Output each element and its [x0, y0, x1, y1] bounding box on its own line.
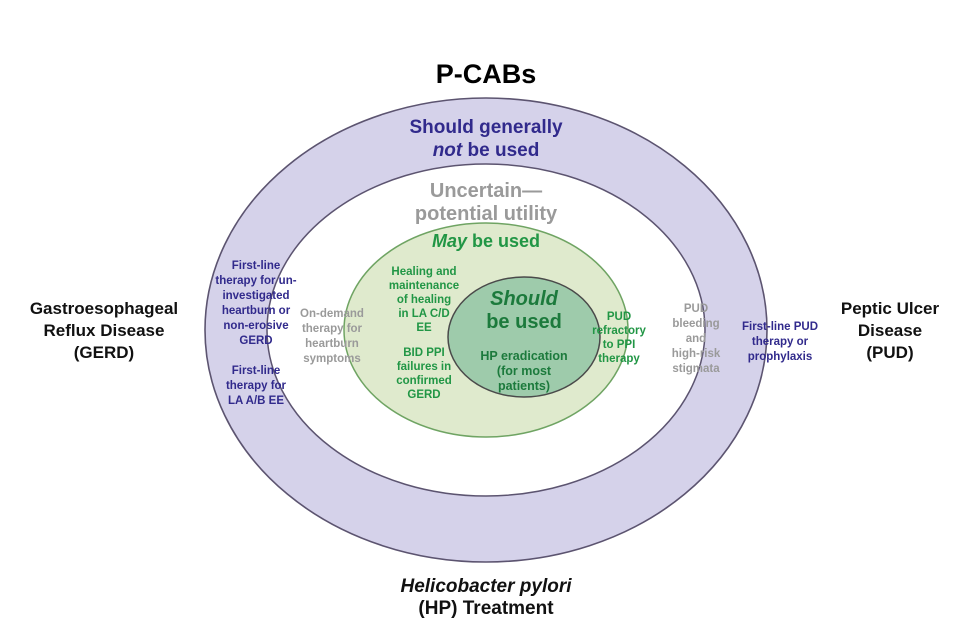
ring4-center-line-1: (for most: [497, 364, 552, 378]
pud-label-line2: Disease: [858, 321, 922, 340]
ring-uncertain-heading: Uncertain— potential utility: [415, 180, 558, 225]
ring3-right-line-2: to PPI: [603, 339, 636, 351]
ring1-heading-line2: not be used: [433, 140, 540, 161]
ring4-center-line-2: patients): [498, 379, 550, 393]
ring2-right-line-3: high-risk: [672, 348, 721, 360]
ring2-right-line-0: PUD: [684, 303, 708, 315]
ring3-left-line-2: of healing: [397, 294, 451, 306]
ring1-left-line-5: GERD: [239, 335, 272, 347]
ring2-right-line-2: and: [686, 333, 706, 345]
ring3-heading-rest: be used: [467, 231, 540, 251]
ring1-heading-italic: not: [433, 140, 463, 161]
ring3-right-line-3: therapy: [598, 353, 640, 365]
ring3-left-line-6: BID PPI: [403, 347, 445, 359]
ring1-items-right: First-line PUD therapy or prophylaxis: [742, 321, 818, 363]
ring1-right-line-0: First-line PUD: [742, 321, 818, 333]
ring2-right-line-1: bleeding: [672, 318, 719, 330]
ring3-left-line-1: maintenance: [389, 280, 459, 292]
outer-label-gerd: Gastroesophageal Reflux Disease (GERD): [30, 299, 178, 362]
ring1-left-line-7: First-line: [232, 365, 281, 377]
outer-label-hp: Helicobacter pylori (HP) Treatment: [400, 576, 572, 619]
ring3-left-line-3: in LA C/D: [398, 308, 449, 320]
page-title: P-CABs: [436, 59, 537, 89]
ring3-left-line-8: confirmed: [396, 375, 452, 387]
hp-label-line1: Helicobacter pylori: [400, 576, 572, 597]
gerd-label-line1: Gastroesophageal: [30, 299, 178, 318]
ring-may-be-used-heading: May be used: [432, 231, 540, 251]
ring4-heading-italic: Should: [490, 288, 559, 310]
ring2-left-line-2: heartburn: [305, 338, 359, 350]
pud-label-line1: Peptic Ulcer: [841, 299, 940, 318]
ring1-left-line-4: non-erosive: [223, 320, 288, 332]
ring3-left-line-4: EE: [416, 322, 432, 334]
gerd-label-line2: Reflux Disease: [44, 321, 165, 340]
gerd-label-line3: (GERD): [74, 343, 134, 362]
pud-label-line3: (PUD): [866, 343, 913, 362]
ring3-left-line-9: GERD: [407, 389, 440, 401]
ring3-right-line-0: PUD: [607, 311, 631, 323]
pcab-concentric-diagram: P-CABs Should generally not be used Firs…: [0, 0, 972, 632]
ring3-right-line-1: refractory: [592, 325, 646, 337]
outer-label-pud: Peptic Ulcer Disease (PUD): [841, 299, 940, 362]
ring2-heading-line1: Uncertain—: [430, 180, 542, 202]
ring1-left-line-2: investigated: [222, 290, 289, 302]
ring1-left-line-9: LA A/B EE: [228, 395, 284, 407]
ring4-center-line-0: HP eradication: [480, 349, 567, 363]
ring3-heading: May be used: [432, 231, 540, 251]
ring1-left-line-8: therapy for: [226, 380, 287, 392]
ring1-left-line-3: heartburn or: [222, 305, 291, 317]
ring1-left-line-0: First-line: [232, 260, 281, 272]
ring1-right-line-1: therapy or: [752, 336, 809, 348]
ring2-left-line-0: On-demand: [300, 308, 364, 320]
ring1-left-line-1: therapy for un-: [215, 275, 296, 287]
ring4-heading-line2: be used: [486, 311, 562, 333]
ring1-right-line-2: prophylaxis: [748, 351, 813, 363]
hp-label-line2: (HP) Treatment: [418, 598, 554, 619]
ring1-heading-line1: Should generally: [409, 117, 563, 138]
ring3-heading-italic: May: [432, 231, 468, 251]
ring2-heading-line2: potential utility: [415, 203, 558, 225]
ring2-left-line-1: therapy for: [302, 323, 363, 335]
ring2-left-line-3: symptoms: [303, 353, 361, 365]
ring2-right-line-4: stigmata: [672, 363, 720, 375]
ring-should-be-used-heading: Should be used: [486, 288, 562, 333]
ring3-left-line-7: failures in: [397, 361, 451, 373]
ring1-heading-rest: be used: [462, 140, 539, 161]
ring3-left-line-0: Healing and: [391, 266, 456, 278]
